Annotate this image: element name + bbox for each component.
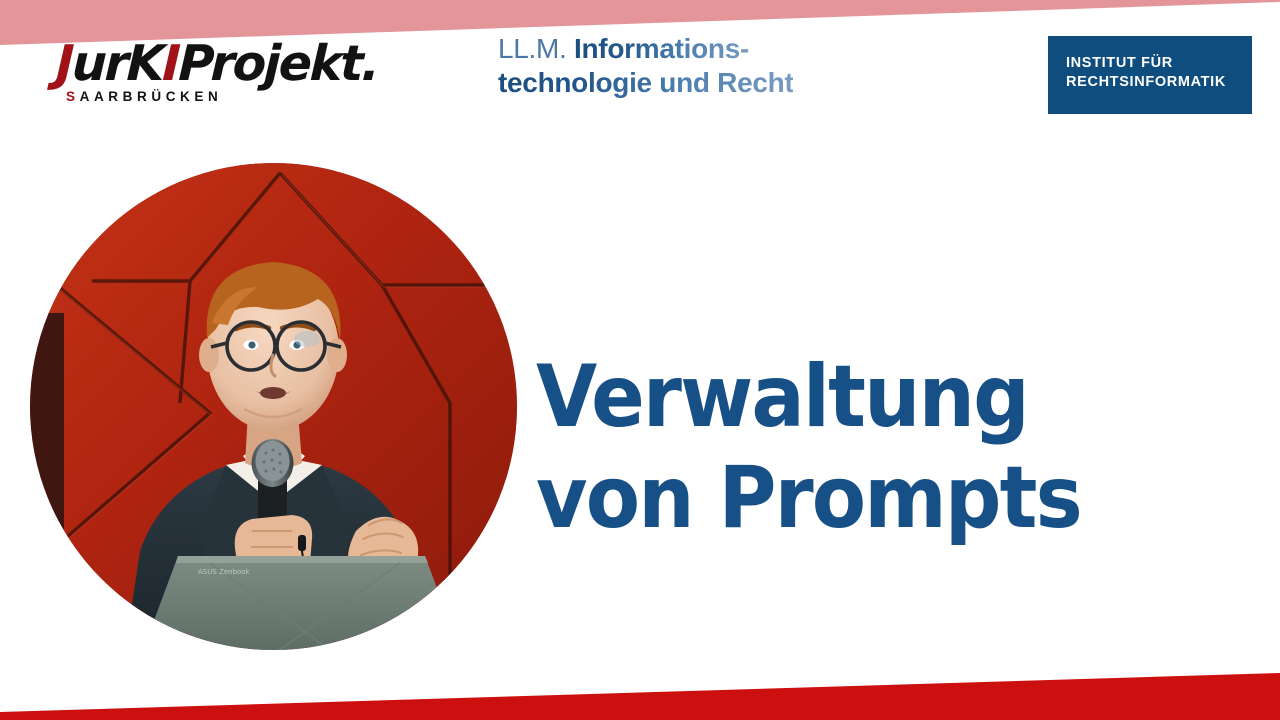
jurki-projekt-logo: JurKIProjekt. SAARBRÜCKEN [56,41,386,104]
programme-emphasis-line2: technologie und Recht [498,67,793,98]
logo-part-projekt: Projekt. [178,35,379,92]
programme-title: LL.M. Informations-technologie und Recht [498,32,918,100]
laptop: ASUS Zenbook [143,556,460,650]
logo-wordmark: JurKIProjekt. [55,41,387,87]
slide-headline: Verwaltung von Prompts [536,347,1180,550]
programme-emphasis-line1: Informations- [574,33,749,64]
speaker-portrait-image: ASUS Zenbook [30,163,517,650]
presentation-slide: JurKIProjekt. SAARBRÜCKEN LL.M. Informat… [0,0,1280,720]
programme-degree-prefix: LL.M. [498,33,574,64]
bottom-red-banner-shape [0,673,1280,720]
logo-part-k: K [126,35,164,92]
logo-part-ur: ur [71,35,128,92]
institute-logo-text: INSTITUT FÜR RECHTSINFORMATIK [1066,54,1226,93]
svg-text:ASUS Zenbook: ASUS Zenbook [198,568,251,576]
speaker-portrait: ASUS Zenbook [30,163,517,650]
institute-logo-box: INSTITUT FÜR RECHTSINFORMATIK [1048,36,1252,114]
slide-header: JurKIProjekt. SAARBRÜCKEN LL.M. Informat… [0,0,1280,140]
